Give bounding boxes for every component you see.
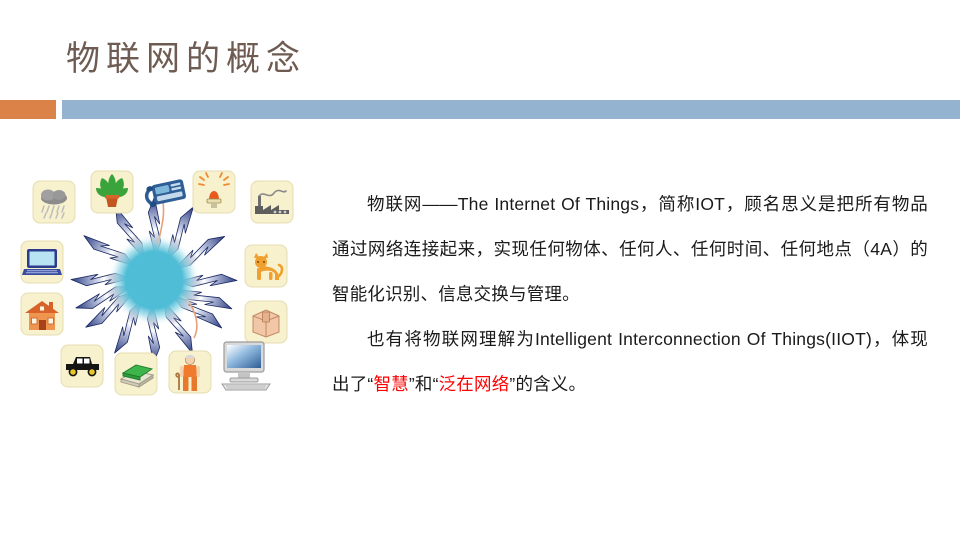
cat-icon xyxy=(245,245,287,287)
elderly-person-icon xyxy=(169,351,211,393)
network-hub-node xyxy=(108,234,200,326)
highlight-zhihui: 智慧 xyxy=(373,374,408,394)
factory-icon xyxy=(251,181,293,223)
laptop-icon xyxy=(21,241,63,283)
telephone-icon xyxy=(144,179,186,208)
package-box-icon xyxy=(245,301,287,343)
divider-bar-blue xyxy=(62,100,960,119)
divider-accent-orange xyxy=(0,100,56,119)
potted-plant-icon xyxy=(91,171,133,213)
car-icon xyxy=(61,345,103,387)
books-icon xyxy=(115,353,157,395)
text-segment-after: ”的含义。 xyxy=(509,374,586,394)
rain-cloud-icon xyxy=(33,181,75,223)
desktop-computer-icon xyxy=(222,342,270,390)
house-icon xyxy=(21,293,63,335)
body-copy: 物联网——The Internet Of Things，简称IOT，顾名思义是把… xyxy=(332,182,928,407)
page-title: 物联网的概念 xyxy=(66,38,306,81)
paragraph-definition: 物联网——The Internet Of Things，简称IOT，顾名思义是把… xyxy=(332,182,928,317)
text-segment-middle: ”和“ xyxy=(409,374,439,394)
iot-network-illustration xyxy=(6,162,298,402)
paragraph-iiot: 也有将物联网理解为Intelligent Interconnection Of … xyxy=(332,317,928,407)
title-divider xyxy=(0,100,960,119)
slide-canvas: 物联网的概念 xyxy=(0,0,960,540)
alarm-siren-icon xyxy=(193,171,235,213)
highlight-fanzai-wangluo: 泛在网络 xyxy=(439,374,510,394)
